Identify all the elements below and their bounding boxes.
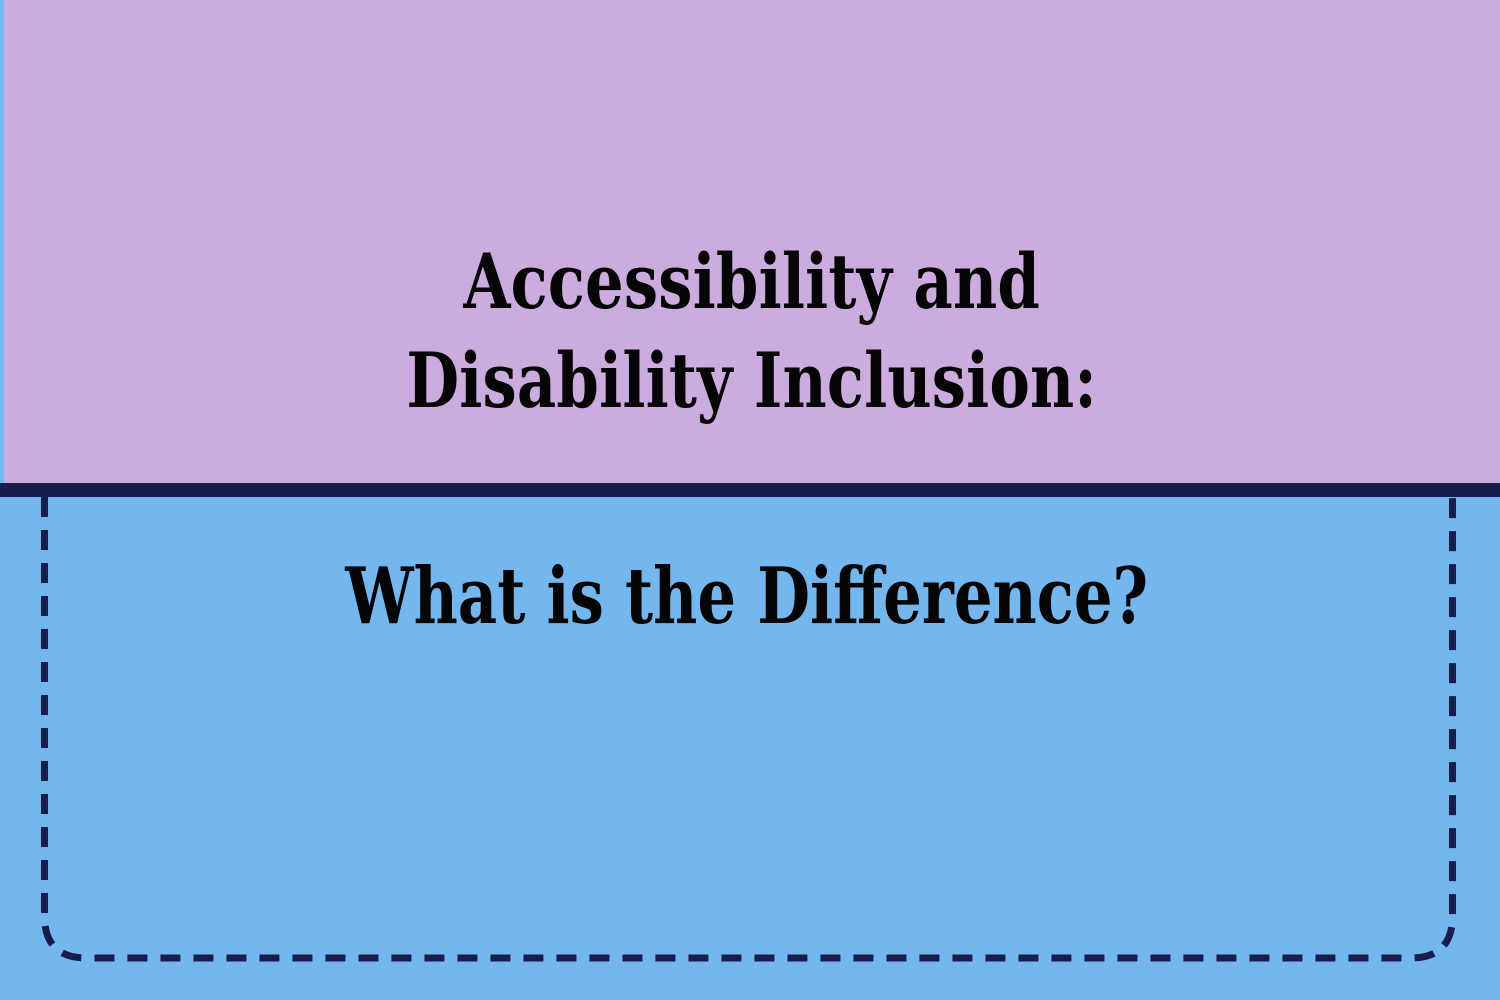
section-divider-bar [0,483,1500,497]
header-panel: Accessibility and Disability Inclusion: [4,0,1500,483]
title-line-2: Disability Inclusion: [407,332,1098,431]
subtitle-container: What is the Difference? [0,497,1500,697]
page-title: Accessibility and Disability Inclusion: [407,233,1098,431]
title-line-1: Accessibility and [407,233,1098,332]
page-subtitle: What is the Difference? [346,553,1149,640]
slide-canvas: Accessibility and Disability Inclusion: … [0,0,1500,1000]
